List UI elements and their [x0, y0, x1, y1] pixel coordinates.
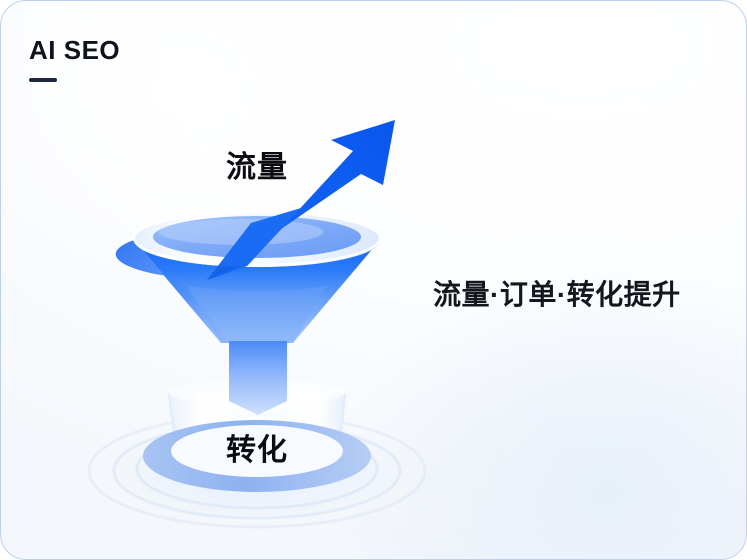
label-conversion: 转化	[226, 436, 288, 466]
brand-block: AI SEO	[29, 37, 120, 82]
growth-arrow	[207, 120, 395, 280]
headline-text: 流量·订单·转化提升	[433, 278, 681, 312]
ripple-rings	[89, 415, 425, 527]
funnel-inner-surface	[153, 216, 361, 258]
illustration-canvas: AI SEO	[0, 0, 747, 560]
ground-glow	[82, 409, 432, 533]
label-traffic: 流量	[226, 153, 288, 183]
funnel-rim	[134, 211, 380, 267]
arrow-inside-bowl-shading	[207, 211, 301, 280]
title-underline-accent	[29, 78, 57, 82]
page-title: AI SEO	[29, 37, 120, 63]
funnel-stem	[229, 341, 287, 415]
funnel-cone	[116, 240, 380, 415]
